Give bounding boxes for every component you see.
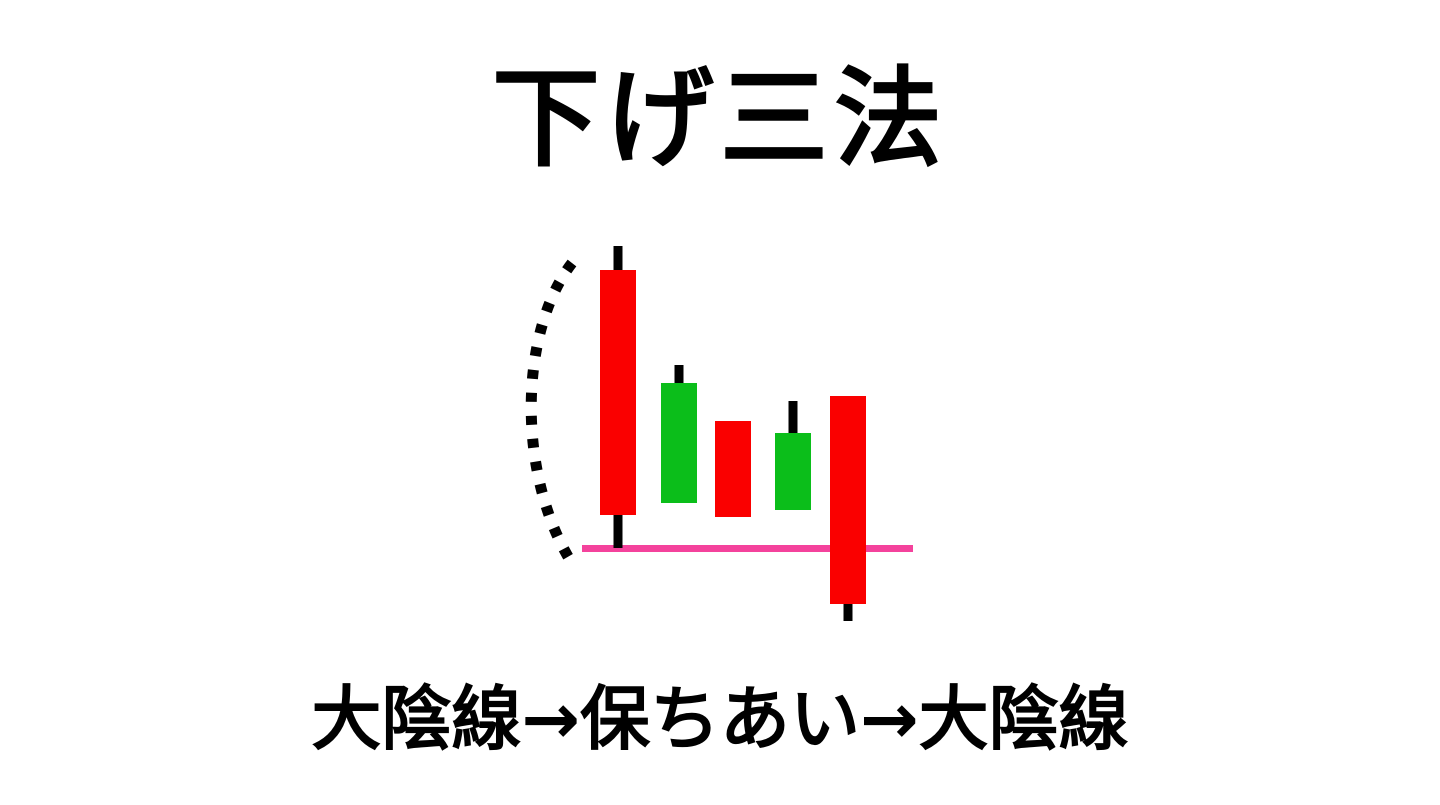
candle-4-bullish — [775, 401, 811, 510]
candle-1-bearish — [600, 246, 636, 548]
consolidation-bracket-arc — [531, 263, 572, 560]
figure-caption: 大陰線→保ちあい→大陰線 — [0, 676, 1440, 762]
candle-5-body — [830, 396, 866, 604]
candle-1-body — [600, 270, 636, 515]
candle-3-body — [715, 421, 751, 517]
candle-2-wick — [675, 365, 684, 383]
candle-2-bullish — [661, 365, 697, 503]
candle-5-bearish — [830, 396, 866, 621]
candle-4-wick — [789, 401, 798, 433]
candle-3-bearish — [715, 421, 751, 517]
figure-canvas: 下げ三法 — [0, 0, 1440, 805]
candle-2-body — [661, 383, 697, 503]
candle-4-body — [775, 433, 811, 510]
